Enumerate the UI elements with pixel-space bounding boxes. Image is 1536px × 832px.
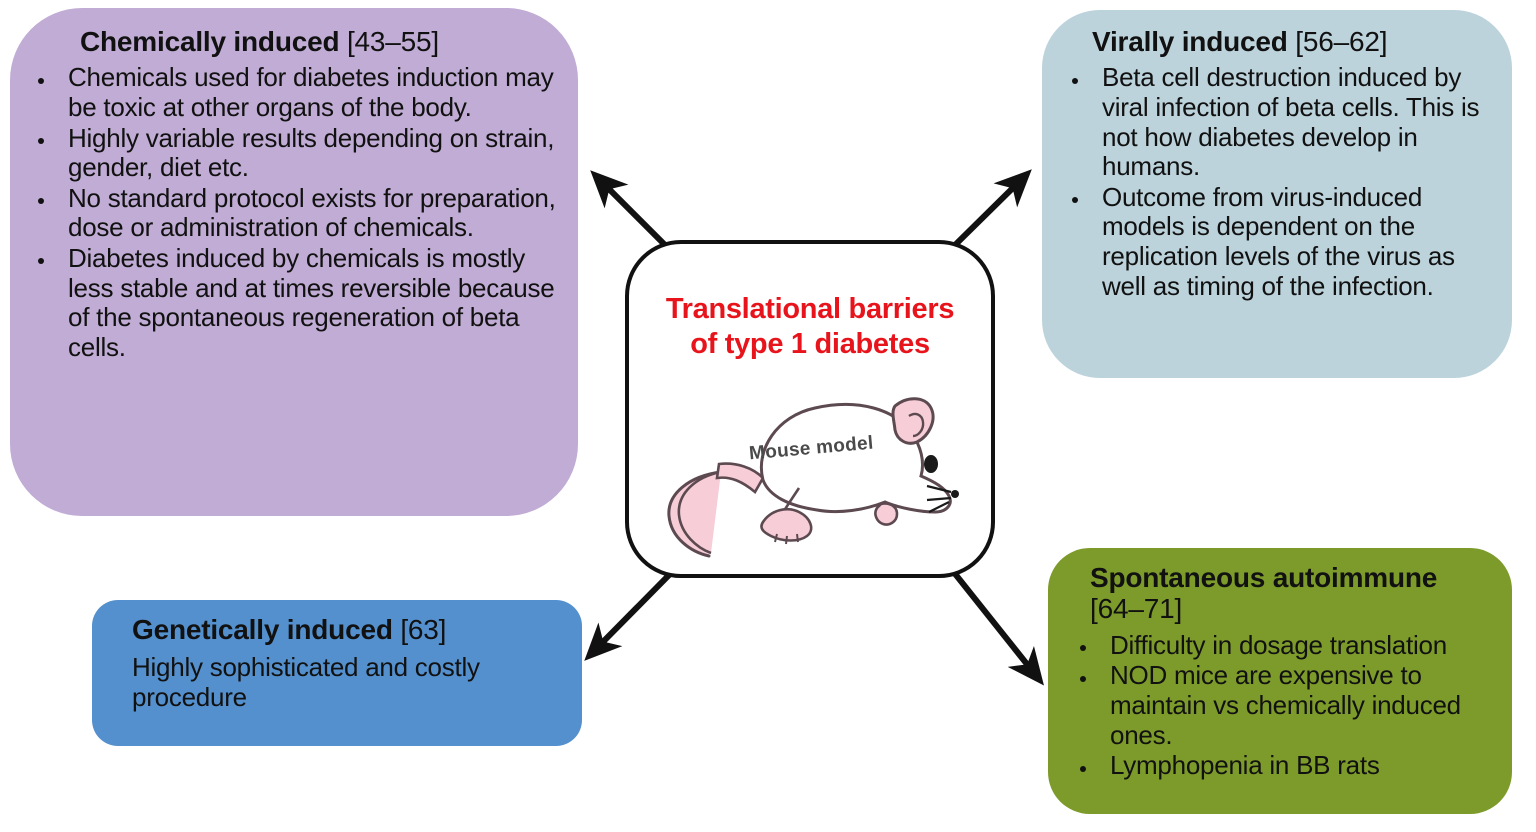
list-item: Lymphopenia in BB rats — [1064, 751, 1504, 781]
mouse-front-foot — [875, 503, 897, 524]
arrow-to-spontaneous — [952, 570, 1038, 678]
center-title: Translational barriers of type 1 diabete… — [629, 292, 991, 362]
card-refs: [43–55] — [347, 26, 439, 57]
card-title-text: Chemically induced — [80, 26, 339, 57]
bullet-list-virally-induced: Beta cell destruction induced by viral i… — [1056, 63, 1502, 301]
card-title-virally-induced: Virally induced [56–62] — [1092, 26, 1512, 57]
list-item: Diabetes induced by chemicals is mostly … — [22, 244, 570, 363]
mouse-illustration — [659, 376, 969, 566]
arrow-to-viral — [953, 176, 1025, 247]
card-title-spontaneous-autoimmune: Spontaneous autoimmune [64–71] — [1090, 562, 1498, 625]
card-chemically-induced: Chemically induced [43–55] Chemicals use… — [10, 8, 578, 516]
card-spontaneous-autoimmune: Spontaneous autoimmune [64–71] Difficult… — [1048, 548, 1512, 814]
mouse-tail-base — [717, 464, 763, 492]
arrow-to-genetic — [591, 572, 672, 654]
card-refs: [56–62] — [1295, 26, 1387, 57]
card-center-translational-barriers: Translational barriers of type 1 diabete… — [625, 240, 995, 578]
card-genetically-induced: Genetically induced [63] Highly sophisti… — [92, 600, 582, 746]
card-title-text: Spontaneous autoimmune — [1090, 562, 1437, 593]
list-item: Chemicals used for diabetes induction ma… — [22, 63, 570, 122]
card-title-chemically-induced: Chemically induced [43–55] — [80, 26, 578, 57]
card-refs: [63] — [400, 614, 446, 645]
list-item: Beta cell destruction induced by viral i… — [1056, 63, 1502, 182]
card-virally-induced: Virally induced [56–62] Beta cell destru… — [1042, 10, 1512, 378]
bullet-list-chemically-induced: Chemicals used for diabetes induction ma… — [22, 63, 570, 362]
center-title-line1: Translational barriers — [666, 293, 954, 325]
list-item: Outcome from virus-induced models is dep… — [1056, 183, 1502, 302]
diagram-canvas: Chemically induced [43–55] Chemicals use… — [0, 0, 1536, 832]
mouse-eye — [924, 455, 938, 473]
card-title-text: Genetically induced — [132, 614, 393, 645]
mouse-hind-foot — [761, 509, 811, 540]
list-item: No standard protocol exists for preparat… — [22, 184, 570, 243]
list-item: NOD mice are expensive to maintain vs ch… — [1064, 661, 1504, 750]
mouse-nose — [951, 490, 959, 498]
card-title-text: Virally induced — [1092, 26, 1288, 57]
bullet-list-spontaneous-autoimmune: Difficulty in dosage translation NOD mic… — [1064, 631, 1504, 781]
card-title-genetically-induced: Genetically induced [63] — [132, 614, 582, 645]
list-item: Difficulty in dosage translation — [1064, 631, 1504, 661]
arrow-to-chemical — [597, 177, 667, 247]
list-item: Highly variable results depending on str… — [22, 124, 570, 183]
card-body-genetically-induced: Highly sophisticated and costly procedur… — [132, 653, 566, 712]
card-refs: [64–71] — [1090, 593, 1182, 624]
center-title-line2: of type 1 diabetes — [690, 328, 930, 360]
